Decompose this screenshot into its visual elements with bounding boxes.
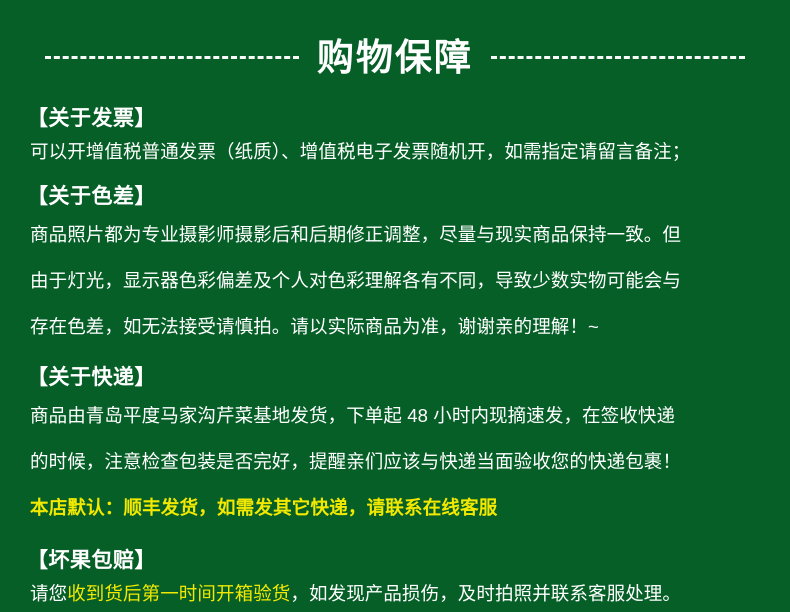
body-line: 由于灯光，显示器色彩偏差及个人对色彩理解各有不同，导致少数实物可能会与: [30, 258, 766, 304]
text-run: ，如发现产品损伤，及时拍照并联系客服处理。: [290, 583, 681, 604]
page-title: 购物保障: [299, 39, 491, 76]
banner-header: 购物保障: [0, 26, 790, 88]
body-line: 本店默认：顺丰发货，如需发其它快递，请联系在线客服: [30, 485, 766, 531]
shopping-guarantee-banner: 购物保障 【关于发票】可以开增值税普通发票（纸质）、增值税电子发票随机开，如需指…: [0, 0, 790, 606]
section-damaged-fruit: 【坏果包赔】请您收到货后第一时间开箱验货，如发现产品损伤，及时拍照并联系客服处理…: [0, 546, 790, 612]
section-body-damaged-fruit: 请您收到货后第一时间开箱验货，如发现产品损伤，及时拍照并联系客服处理。: [27, 576, 766, 612]
guarantee-sections: 【关于发票】可以开增值税普通发票（纸质）、增值税电子发票随机开，如需指定请留言备…: [0, 104, 790, 612]
section-title-color-difference: 【关于色差】: [27, 182, 766, 212]
text-run: 由于灯光，显示器色彩偏差及个人对色彩理解各有不同，导致少数实物可能会与: [30, 270, 681, 291]
dashed-rule-left-icon: [45, 56, 299, 59]
dashed-rule-right-icon: [491, 56, 745, 59]
body-line: 的时候，注意检查包装是否完好，提醒亲们应该与快递当面验收您的快递包裹！: [30, 439, 766, 485]
section-title-express: 【关于快递】: [27, 363, 766, 393]
text-run: 商品照片都为专业摄影师摄影后和后期修正调整，尽量与现实商品保持一致。但: [30, 224, 681, 245]
section-color-difference: 【关于色差】商品照片都为专业摄影师摄影后和后期修正调整，尽量与现实商品保持一致。…: [0, 182, 790, 350]
text-run: 的时候，注意检查包装是否完好，提醒亲们应该与快递当面验收您的快递包裹！: [30, 451, 681, 472]
body-line: 存在色差，如无法接受请慎拍。请以实际商品为准，谢谢亲的理解！~: [30, 304, 766, 350]
section-body-invoice: 可以开增值税普通发票（纸质）、增值税电子发票随机开，如需指定请留言备注；: [27, 134, 766, 170]
highlighted-text-run: 收到货后第一时间开箱验货: [67, 583, 290, 604]
highlighted-text-run: 本店默认：顺丰发货，如需发其它快递，请联系在线客服: [30, 497, 498, 518]
text-run: 请您: [30, 583, 67, 604]
text-run: 可以开增值税普通发票（纸质）、增值税电子发票随机开，如需指定请留言备注；: [30, 141, 690, 162]
body-line: 可以开增值税普通发票（纸质）、增值税电子发票随机开，如需指定请留言备注；: [30, 134, 766, 170]
section-invoice: 【关于发票】可以开增值税普通发票（纸质）、增值税电子发票随机开，如需指定请留言备…: [0, 104, 790, 170]
section-body-express: 商品由青岛平度马家沟芹菜基地发货，下单起 48 小时内现摘速发，在签收快递的时候…: [27, 393, 766, 531]
body-line: 请您收到货后第一时间开箱验货，如发现产品损伤，及时拍照并联系客服处理。: [30, 576, 766, 612]
section-express: 【关于快递】商品由青岛平度马家沟芹菜基地发货，下单起 48 小时内现摘速发，在签…: [0, 363, 790, 531]
text-run: 商品由青岛平度马家沟芹菜基地发货，下单起 48 小时内现摘速发，在签收快递: [30, 405, 675, 426]
section-title-invoice: 【关于发票】: [27, 104, 766, 134]
text-run: 存在色差，如无法接受请慎拍。请以实际商品为准，谢谢亲的理解！~: [30, 316, 599, 337]
body-line: 商品由青岛平度马家沟芹菜基地发货，下单起 48 小时内现摘速发，在签收快递: [30, 393, 766, 439]
body-line: 商品照片都为专业摄影师摄影后和后期修正调整，尽量与现实商品保持一致。但: [30, 212, 766, 258]
section-title-damaged-fruit: 【坏果包赔】: [27, 546, 766, 576]
section-body-color-difference: 商品照片都为专业摄影师摄影后和后期修正调整，尽量与现实商品保持一致。但由于灯光，…: [27, 212, 766, 350]
